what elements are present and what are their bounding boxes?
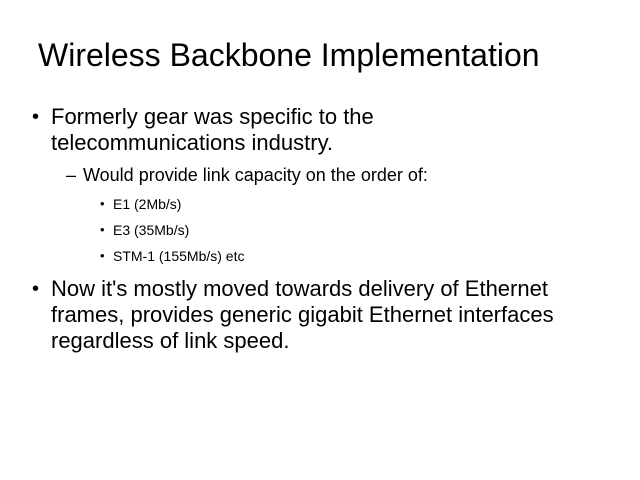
bullet-marker-icon: • <box>32 104 51 130</box>
bullet-marker-icon: • <box>100 221 113 239</box>
slide-title: Wireless Backbone Implementation <box>38 36 610 74</box>
presentation-slide: Wireless Backbone Implementation • Forme… <box>0 0 640 480</box>
bullet-text: Formerly gear was specific to the teleco… <box>51 104 471 156</box>
bullet-text: E1 (2Mb/s) <box>113 195 640 213</box>
bullet-level3-item: • STM-1 (155Mb/s) etc <box>100 247 640 265</box>
bullet-level3-item: • E1 (2Mb/s) <box>100 195 640 213</box>
bullet-marker-icon: • <box>100 247 113 265</box>
slide-body-outline: • Formerly gear was specific to the tele… <box>0 104 640 354</box>
bullet-marker-icon: • <box>100 195 113 213</box>
bullet-marker-icon: • <box>32 276 51 302</box>
bullet-text: STM-1 (155Mb/s) etc <box>113 247 640 265</box>
bullet-level1-item: • Now it's mostly moved towards delivery… <box>32 276 640 354</box>
bullet-text: Now it's mostly moved towards delivery o… <box>51 276 561 354</box>
dash-marker-icon: – <box>66 163 83 187</box>
bullet-level2-item: – Would provide link capacity on the ord… <box>66 163 640 187</box>
bullet-text: E3 (35Mb/s) <box>113 221 640 239</box>
bullet-text: Would provide link capacity on the order… <box>83 163 640 187</box>
bullet-level3-item: • E3 (35Mb/s) <box>100 221 640 239</box>
bullet-level1-item: • Formerly gear was specific to the tele… <box>32 104 640 156</box>
